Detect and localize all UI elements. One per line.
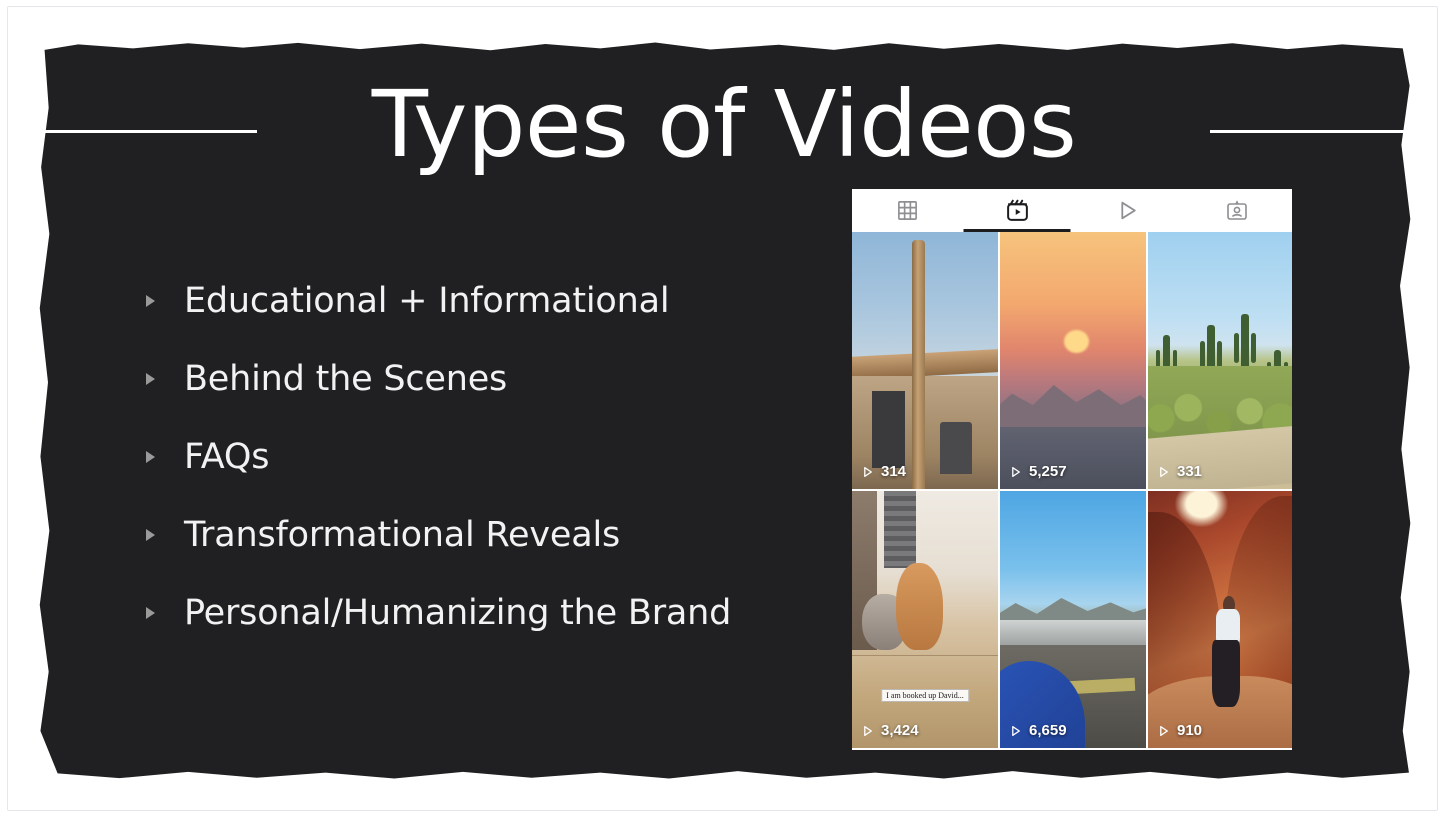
instagram-thumbnail-grid: 314 5,257 <box>852 232 1292 748</box>
triangle-bullet-icon <box>140 373 168 385</box>
view-count-value: 6,659 <box>1029 722 1067 739</box>
tagged-person-icon <box>1225 199 1249 223</box>
list-item: Educational + Informational <box>140 262 800 340</box>
thumbnail-artwork <box>852 232 998 489</box>
thumbnail-artwork <box>852 491 998 748</box>
bullet-label: Transformational Reveals <box>168 515 620 555</box>
view-count: 3,424 <box>861 722 919 739</box>
triangle-bullet-icon <box>140 451 168 463</box>
view-count: 910 <box>1157 722 1202 739</box>
instagram-profile-screenshot: 314 5,257 <box>852 189 1292 750</box>
bullet-label: Educational + Informational <box>168 281 669 321</box>
bullet-list: Educational + Informational Behind the S… <box>140 262 800 652</box>
play-icon <box>1009 724 1022 738</box>
thumbnail-artwork <box>1000 232 1146 489</box>
thumbnail-cell[interactable]: 6,659 <box>1000 491 1146 748</box>
view-count: 331 <box>1157 463 1202 480</box>
bullet-label: Behind the Scenes <box>168 359 507 399</box>
view-count-value: 314 <box>881 463 906 480</box>
list-item: Behind the Scenes <box>140 340 800 418</box>
thumbnail-artwork <box>1148 491 1292 748</box>
list-item: Personal/Humanizing the Brand <box>140 574 800 652</box>
video-tab[interactable] <box>1072 189 1182 232</box>
thumbnail-cell[interactable]: 331 <box>1148 232 1292 489</box>
triangle-bullet-icon <box>140 529 168 541</box>
play-icon <box>1009 465 1022 479</box>
title-row: Types of Videos <box>37 62 1411 187</box>
view-count-value: 5,257 <box>1029 463 1067 480</box>
tagged-tab[interactable] <box>1182 189 1292 232</box>
thumbnail-cell[interactable]: 314 <box>852 232 998 489</box>
thumbnail-cell[interactable]: 910 <box>1148 491 1292 748</box>
slide-root: Types of Videos Educational + Informatio… <box>0 0 1445 823</box>
triangle-bullet-icon <box>140 295 168 307</box>
play-icon <box>1157 465 1170 479</box>
page-title: Types of Videos <box>37 62 1411 187</box>
thumbnail-cell[interactable]: I am booked up David... 3,424 <box>852 491 998 748</box>
play-icon <box>1157 724 1170 738</box>
view-count-value: 331 <box>1177 463 1202 480</box>
reels-tab[interactable] <box>962 189 1072 232</box>
bullet-label: FAQs <box>168 437 269 477</box>
play-icon <box>1115 198 1140 223</box>
list-item: Transformational Reveals <box>140 496 800 574</box>
thumbnail-cell[interactable]: 5,257 <box>1000 232 1146 489</box>
view-count: 314 <box>861 463 906 480</box>
triangle-bullet-icon <box>140 607 168 619</box>
view-count-value: 910 <box>1177 722 1202 739</box>
reels-icon <box>1005 198 1030 223</box>
play-icon <box>861 724 874 738</box>
play-icon <box>861 465 874 479</box>
list-item: FAQs <box>140 418 800 496</box>
instagram-tabbar <box>852 189 1292 232</box>
thumbnail-caption: I am booked up David... <box>881 689 969 702</box>
grid-tab[interactable] <box>852 189 962 232</box>
view-count: 6,659 <box>1009 722 1067 739</box>
view-count-value: 3,424 <box>881 722 919 739</box>
thumbnail-artwork <box>1148 232 1292 489</box>
grid-icon <box>896 199 919 222</box>
view-count: 5,257 <box>1009 463 1067 480</box>
bullet-label: Personal/Humanizing the Brand <box>168 593 731 633</box>
thumbnail-artwork <box>1000 491 1146 748</box>
